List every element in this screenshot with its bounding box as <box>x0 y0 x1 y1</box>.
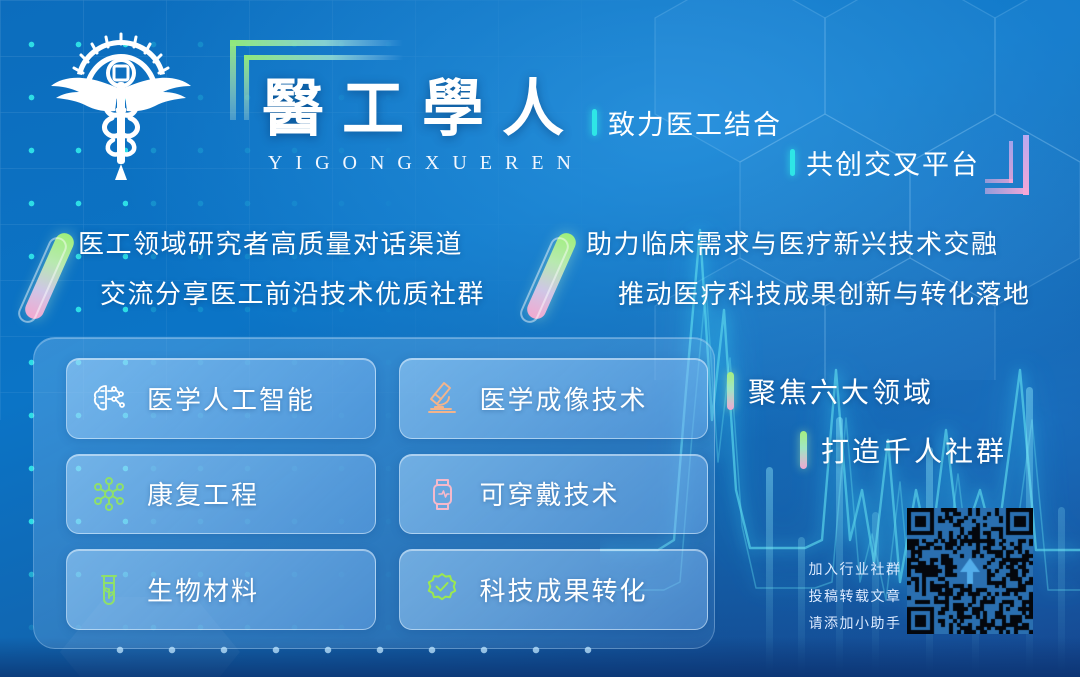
header-tag-2-label: 共创交叉平台 <box>806 143 980 182</box>
card-medical-ai[interactable]: 医学人工智能 <box>66 358 376 439</box>
slogan-right-line-1: 助力临床需求与医疗新兴技术交融 <box>586 224 999 261</box>
check-badge-icon <box>422 570 462 610</box>
pink-corner-bracket-icon <box>985 135 1031 197</box>
card-wearable-tech[interactable]: 可穿戴技术 <box>399 454 709 535</box>
card-label: 生物材料 <box>147 571 259 608</box>
qr-note-1: 加入行业社群 <box>800 557 910 584</box>
cyan-accent-bar-icon <box>592 109 597 136</box>
card-label: 医学成像技术 <box>480 380 648 417</box>
card-tech-transfer[interactable]: 科技成果转化 <box>399 549 709 630</box>
domain-cards-grid: 医学人工智能 医学成像技术 <box>66 358 708 630</box>
gradient-bar-icon <box>727 372 734 410</box>
promo-poster: 醫工學人 YIGONGXUEREN 致力医工结合 共创交叉平台 医工领域研究者高… <box>0 0 1080 677</box>
qr-note-2: 投稿转载文章 <box>800 584 910 611</box>
qr-code-icon[interactable] <box>907 508 1033 634</box>
brain-ai-icon <box>89 378 129 418</box>
qr-notes: 加入行业社群 投稿转载文章 请添加小助手 <box>800 557 910 638</box>
card-rehabilitation-engineering[interactable]: 康复工程 <box>66 454 376 535</box>
header-tag-1-label: 致力医工结合 <box>608 103 782 142</box>
highlight-1-label: 聚焦六大领域 <box>748 371 934 411</box>
header-tag-1: 致力医工结合 <box>592 103 782 142</box>
card-biomaterials[interactable]: 生物材料 <box>66 549 376 630</box>
cyan-accent-bar-icon <box>790 149 795 176</box>
brand-title-cn: 醫工學人 <box>262 58 582 148</box>
card-label: 可穿戴技术 <box>480 475 620 512</box>
highlight-2-label: 打造千人社群 <box>821 430 1007 470</box>
slogan-right-line-2: 推动医疗科技成果创新与转化落地 <box>618 274 1031 311</box>
slogan-left-line-1: 医工领域研究者高质量对话渠道 <box>78 224 463 261</box>
caduceus-medical-logo-icon <box>46 26 196 186</box>
gradient-bar-icon <box>800 431 807 469</box>
header-tag-2: 共创交叉平台 <box>790 143 980 182</box>
microscope-icon <box>422 378 462 418</box>
card-label: 康复工程 <box>147 475 259 512</box>
card-label: 科技成果转化 <box>480 571 648 608</box>
panel-dots-decoration <box>94 644 614 656</box>
molecule-network-icon <box>89 474 129 514</box>
qr-note-3: 请添加小助手 <box>800 611 910 638</box>
brand-title-pinyin: YIGONGXUEREN <box>268 152 584 175</box>
card-medical-imaging[interactable]: 医学成像技术 <box>399 358 709 439</box>
slogan-left-line-2: 交流分享医工前沿技术优质社群 <box>100 274 485 311</box>
smartwatch-icon <box>422 474 462 514</box>
highlight-2: 打造千人社群 <box>800 430 1007 470</box>
highlight-1: 聚焦六大领域 <box>727 371 934 411</box>
test-tube-leaf-icon <box>89 570 129 610</box>
card-label: 医学人工智能 <box>147 380 315 417</box>
